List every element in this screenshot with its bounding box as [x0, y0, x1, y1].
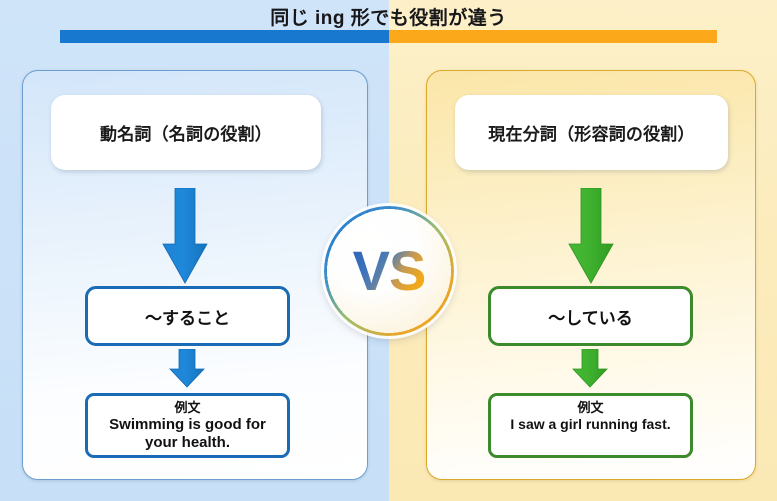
title-rule-blue: [60, 30, 389, 43]
participle-meaning-box: 〜している: [488, 286, 693, 346]
gerund-example-box: 例文 Swimming is good for your health.: [85, 393, 290, 458]
slide-title: 同じ ing 形でも役割が違う: [0, 3, 777, 30]
title-rule-orange: [389, 30, 717, 43]
arrow-down-large-green: [566, 188, 616, 286]
arrow-down-small-green: [571, 349, 609, 389]
gerund-example-line1: Swimming is good for: [94, 416, 281, 435]
participle-example-box: 例文 I saw a girl running fast.: [488, 393, 693, 458]
arrow-down-small-blue: [168, 349, 206, 389]
participle-heading-box: 現在分詞（形容詞の役割）: [455, 95, 728, 170]
gerund-meaning-box: 〜すること: [85, 286, 290, 346]
arrow-down-large-blue: [160, 188, 210, 286]
participle-example-line1: I saw a girl running fast.: [497, 416, 684, 434]
vs-label: VS: [353, 243, 426, 299]
slide-canvas: 同じ ing 形でも役割が違う 動名詞（名詞の役割） 〜すること 例文 Swim…: [0, 0, 777, 501]
vs-badge: VS: [324, 206, 454, 336]
participle-example-label: 例文: [497, 400, 684, 416]
participle-heading-label: 現在分詞（形容詞の役割）: [488, 120, 694, 145]
participle-meaning-label: 〜している: [548, 304, 633, 329]
gerund-example-label: 例文: [94, 400, 281, 416]
gerund-heading-box: 動名詞（名詞の役割）: [51, 95, 321, 170]
gerund-heading-label: 動名詞（名詞の役割）: [100, 120, 272, 145]
gerund-meaning-label: 〜すること: [145, 304, 230, 329]
gerund-example-line2: your health.: [94, 434, 281, 453]
